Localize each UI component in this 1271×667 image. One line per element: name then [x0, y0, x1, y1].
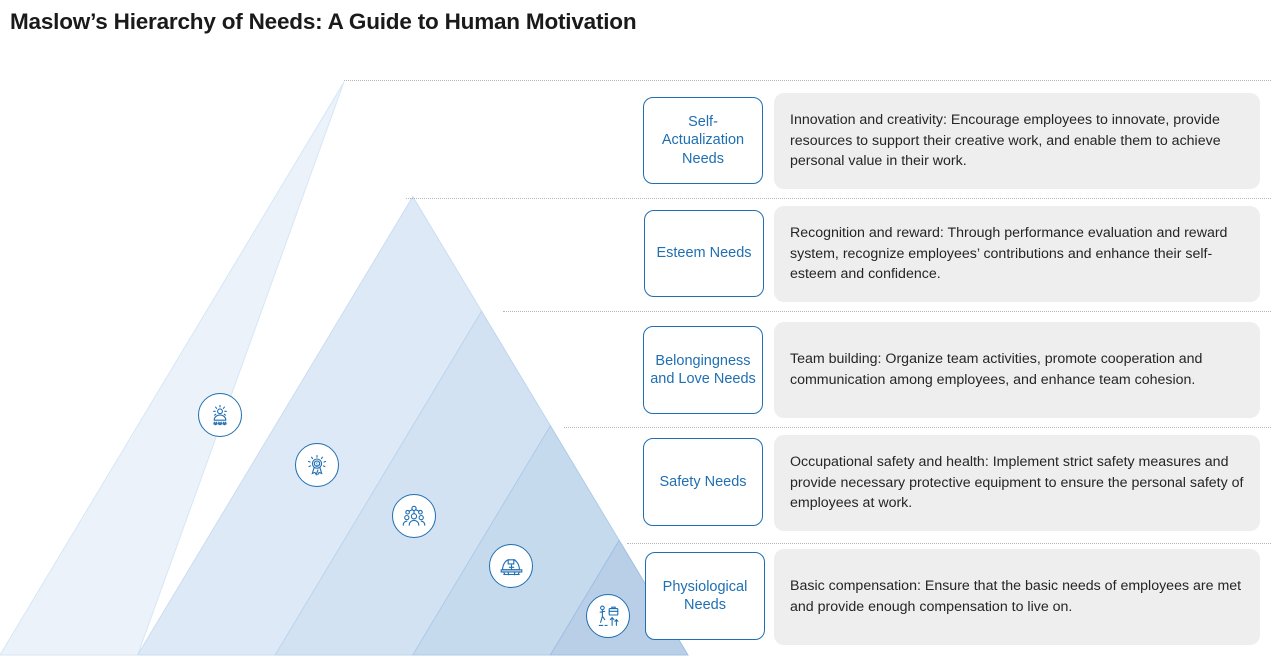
- self-actualization-icon: [198, 393, 242, 437]
- page-title: Maslow’s Hierarchy of Needs: A Guide to …: [10, 9, 636, 35]
- description-card-safety: Occupational safety and health: Implemen…: [774, 435, 1260, 531]
- row-separator: [564, 427, 1271, 428]
- esteem-icon: S: [295, 443, 339, 487]
- physiological-icon: [586, 594, 630, 638]
- infographic-canvas: Maslow’s Hierarchy of Needs: A Guide to …: [0, 0, 1271, 667]
- svg-text:S: S: [315, 462, 318, 467]
- label-card-belongingness[interactable]: Belongingness and Love Needs: [643, 326, 763, 414]
- description-card-belongingness: Team building: Organize team activities,…: [774, 322, 1260, 418]
- pyramid-layer-2: [138, 197, 482, 655]
- description-card-self-actualization: Innovation and creativity: Encourage emp…: [774, 93, 1260, 189]
- row-separator: [406, 198, 1271, 199]
- description-card-physiological: Basic compensation: Ensure that the basi…: [774, 549, 1260, 645]
- row-separator: [503, 311, 1271, 312]
- label-card-esteem[interactable]: Esteem Needs: [644, 210, 764, 297]
- label-card-physiological[interactable]: Physiological Needs: [645, 552, 765, 640]
- pyramid-layer-1: [0, 82, 344, 655]
- row-separator: [627, 543, 1271, 544]
- label-card-self-actualization[interactable]: Self-Actualization Needs: [643, 97, 763, 184]
- safety-icon: [489, 544, 533, 588]
- row-separator: [344, 80, 1271, 81]
- belongingness-icon: [392, 494, 436, 538]
- description-card-esteem: Recognition and reward: Through performa…: [774, 206, 1260, 302]
- label-card-safety[interactable]: Safety Needs: [643, 438, 763, 526]
